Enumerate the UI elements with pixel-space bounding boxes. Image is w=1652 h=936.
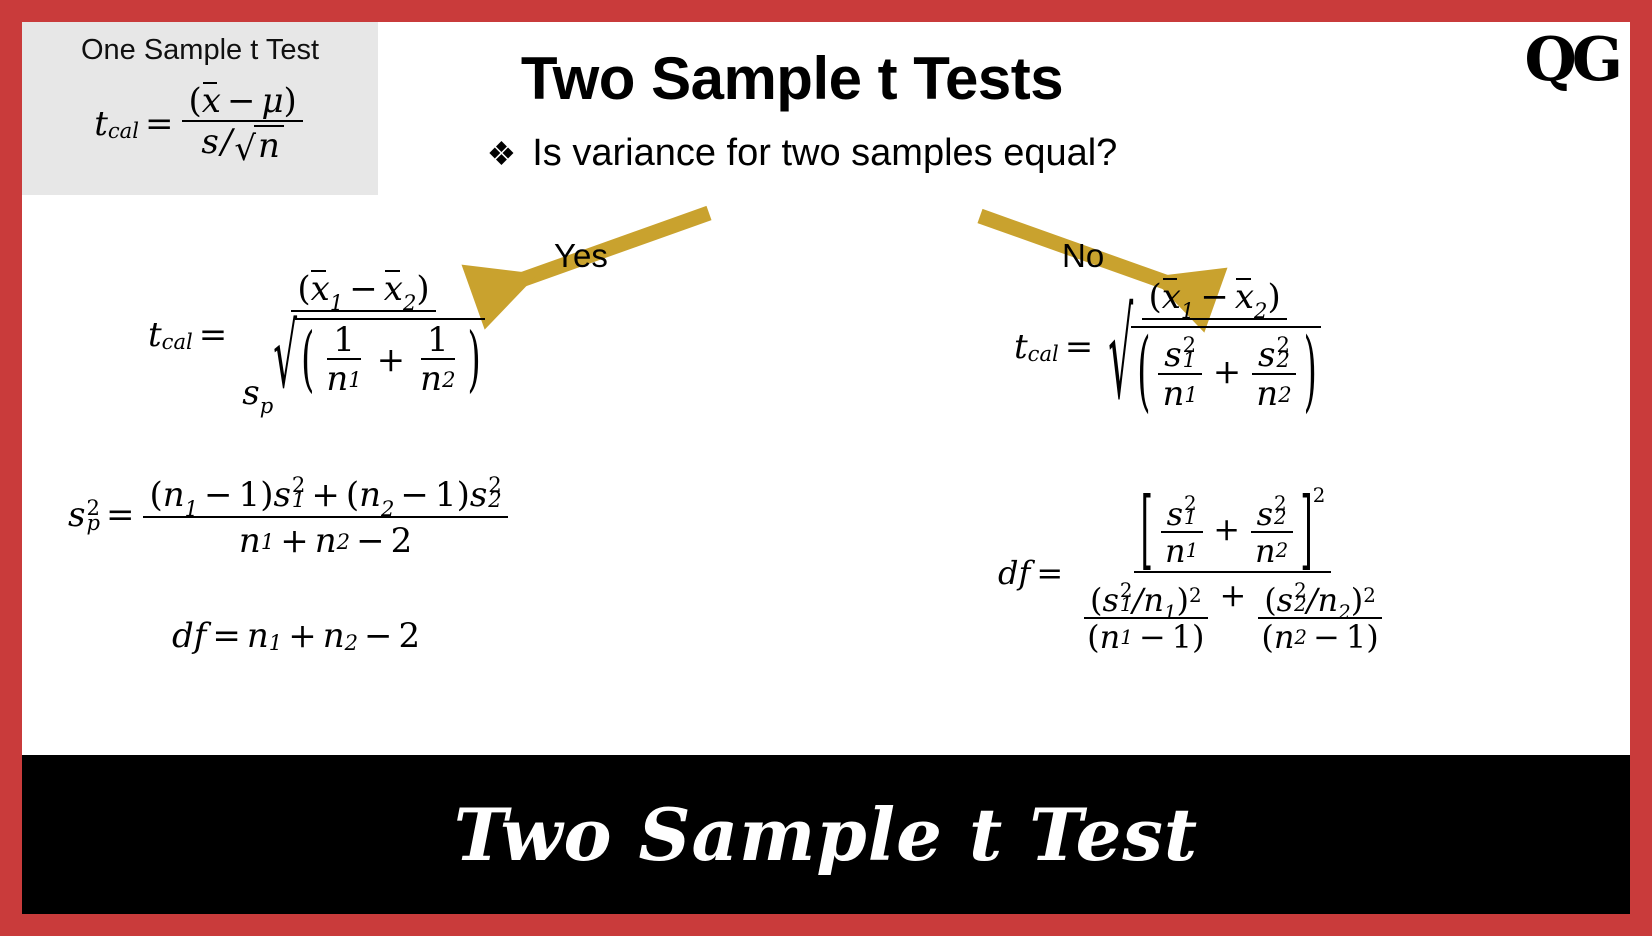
minus-sign: − <box>221 84 262 118</box>
n1-sub: 1 <box>1120 628 1133 648</box>
radicand-n: n <box>254 125 284 163</box>
numeral-two: 2 <box>391 524 413 558</box>
n2-symbol: n <box>1274 621 1295 653</box>
page-title: Two Sample t Tests <box>402 44 1182 113</box>
equals-sign: = <box>100 498 141 532</box>
one-sample-title: One Sample t Test <box>22 34 378 67</box>
close-paren: ) <box>1267 280 1280 314</box>
open-paren: ( <box>1087 621 1099 653</box>
n1-symbol: n <box>1100 621 1121 653</box>
open-paren: ( <box>149 478 162 512</box>
radical-sign: √ <box>234 125 256 163</box>
s1-sub: 1 <box>1183 350 1196 370</box>
numeral-one: 1 <box>435 478 457 512</box>
s2-sub: 2 <box>488 490 501 510</box>
df-symbol: df <box>998 557 1030 589</box>
s1-subsup: 2 1 <box>1183 332 1196 372</box>
sp-sub: p <box>260 395 274 416</box>
one-sample-fraction: (x−μ) s/ √n <box>182 84 302 163</box>
s2-symbol: s <box>470 478 487 512</box>
slash: / <box>1133 584 1144 616</box>
n2-sub: 2 <box>345 632 358 653</box>
s1-symbol: s <box>1167 498 1183 530</box>
n1-symbol: n <box>1162 377 1184 411</box>
s1-symbol: s <box>1102 584 1118 616</box>
s2-symbol: s <box>1258 338 1275 372</box>
numeral-one: 1 <box>239 478 261 512</box>
equals-sign: = <box>193 318 234 352</box>
close-paren: ) <box>1177 584 1189 616</box>
s1sq-over-n1: s 2 1 n1 <box>1156 332 1203 411</box>
close-paren: ) <box>1192 621 1204 653</box>
minus-sign: − <box>1307 621 1346 653</box>
n2-symbol: n <box>323 619 345 653</box>
close-paren: ) <box>1351 584 1363 616</box>
plus-sign: + <box>305 478 346 512</box>
slide-canvas: One Sample t Test tcal = (x−μ) s/ √n <box>22 22 1630 914</box>
welch-den-term-1: (s 2 1 /n1)2 (n1−1) <box>1081 579 1210 654</box>
x-bar: x <box>202 84 221 118</box>
n2-sub: 2 <box>337 531 350 552</box>
s1-subsup: 2 1 <box>292 472 305 512</box>
term-exponent: 2 <box>1363 586 1376 606</box>
x2-sub: 2 <box>403 292 416 313</box>
x1-bar: x <box>1162 280 1181 314</box>
sqrt-group: √ ( s 2 1 <box>1108 326 1321 413</box>
n1-symbol: n <box>326 362 348 396</box>
pooled-variance-fraction: (n1−1)s 2 1 +(n2−1)s 2 2 n1+n2−2 <box>143 472 507 558</box>
n1-sub: 1 <box>1186 541 1199 561</box>
left-t-fraction: (x1−x2) sp √ ( 1 n1 + <box>236 272 490 398</box>
bracket-exponent: 2 <box>1313 486 1326 506</box>
s-symbol: s <box>68 498 85 532</box>
open-paren: ( <box>1137 327 1150 415</box>
right-t-fraction: (x1−x2) √ ( s 2 <box>1102 280 1327 413</box>
t-sub: cal <box>162 331 193 352</box>
n1-sub: 1 <box>1164 603 1177 623</box>
sp-symbol: s <box>242 376 259 410</box>
s1-sub: 1 <box>292 490 305 510</box>
n2-symbol: n <box>420 362 442 396</box>
one-sample-t-test-box: One Sample t Test tcal = (x−μ) s/ √n <box>22 22 378 195</box>
plus-sign: + <box>1214 579 1253 611</box>
s1-symbol: s <box>273 478 290 512</box>
s2-subsup: 2 2 <box>488 472 501 512</box>
plus-sign: + <box>1207 513 1246 545</box>
plus-sign: + <box>371 343 412 377</box>
numeral-one: 1 <box>333 323 355 357</box>
s1-symbol: s <box>1164 338 1181 372</box>
open-paren: ( <box>301 324 314 395</box>
s2-subsup: 2 2 <box>1276 332 1289 372</box>
equals-sign: = <box>139 107 180 141</box>
t-symbol: t <box>1014 330 1028 364</box>
minus-sign: − <box>198 478 239 512</box>
sqrt-group: √ ( 1 n1 + 1 n2 <box>273 318 485 398</box>
n1-symbol: n <box>1165 535 1186 567</box>
slide-frame: One Sample t Test tcal = (x−μ) s/ √n <box>0 0 1652 936</box>
s2sq-over-n2: s 2 2 n2 <box>1249 492 1294 567</box>
s1-subsup: 2 1 <box>1184 492 1197 530</box>
open-paren: ( <box>1090 584 1102 616</box>
plus-sign: + <box>282 619 323 653</box>
s1-sub: 1 <box>1120 596 1133 615</box>
close-paren: ) <box>260 478 273 512</box>
welch-df-fraction: [ s 2 1 n1 + <box>1072 492 1394 653</box>
welch-den-term-2: (s 2 2 /n2)2 (n2−1) <box>1255 579 1384 654</box>
question-text: Is variance for two samples equal? <box>532 132 1117 175</box>
left-t-statistic-formula: tcal = (x1−x2) sp √ ( 1 <box>148 272 494 398</box>
s1sq-over-n1: s 2 1 n1 <box>1159 492 1204 567</box>
s-symbol: s <box>201 125 218 159</box>
n1-symbol: n <box>1143 584 1164 616</box>
s2-sub: 2 <box>1276 350 1289 370</box>
numeral-one: 1 <box>1172 621 1192 653</box>
radical-sign: √ <box>273 323 297 393</box>
open-bracket: [ <box>1140 486 1152 572</box>
n2-sub: 2 <box>381 498 394 519</box>
close-paren: ) <box>457 478 470 512</box>
yes-label: Yes <box>554 237 608 275</box>
pooled-variance-formula: s 2 p = (n1−1)s 2 1 +(n2−1)s 2 2 <box>68 472 511 558</box>
radical-sign: √ <box>1108 310 1133 407</box>
sp-sub: p <box>86 513 100 533</box>
slash: / <box>1307 584 1318 616</box>
minus-sign: − <box>394 478 435 512</box>
minus-sign: − <box>1133 621 1172 653</box>
n2-symbol: n <box>315 524 337 558</box>
one-over-n1: 1 n1 <box>320 323 367 396</box>
mu-symbol: μ <box>261 84 283 118</box>
x2-sub: 2 <box>1254 300 1267 321</box>
term-exponent: 2 <box>1189 586 1202 606</box>
equals-sign: = <box>1059 330 1100 364</box>
one-sample-t: t <box>94 107 108 141</box>
x2-bar: x <box>1235 280 1254 314</box>
df-symbol: df <box>172 619 206 653</box>
sqrt-n: √n <box>234 125 284 163</box>
equals-sign: = <box>206 619 247 653</box>
t-sub: cal <box>1028 343 1059 364</box>
minus-sign: − <box>343 272 384 306</box>
n2-symbol: n <box>359 478 381 512</box>
x1-sub: 1 <box>330 292 343 313</box>
numeral-one: 1 <box>1346 621 1366 653</box>
s1-subsup: 2 1 <box>1120 579 1133 617</box>
n2-sub: 2 <box>1278 384 1291 405</box>
open-paren: ( <box>346 478 359 512</box>
open-paren: ( <box>1148 280 1161 314</box>
numeral-one: 1 <box>427 323 449 357</box>
t-symbol: t <box>148 318 162 352</box>
close-paren: ) <box>1366 621 1378 653</box>
open-paren: ( <box>1264 584 1276 616</box>
slash: / <box>219 125 234 159</box>
one-over-n2: 1 n2 <box>414 323 461 396</box>
n1-sub: 1 <box>261 531 274 552</box>
x1-bar: x <box>311 272 330 306</box>
s2-subsup: 2 2 <box>1274 492 1287 530</box>
n1-symbol: n <box>247 619 269 653</box>
n1-sub: 1 <box>1184 384 1197 405</box>
diamond-bullet-icon: ❖ <box>487 137 517 170</box>
equals-sign: = <box>1030 557 1069 589</box>
n2-sub: 2 <box>1294 628 1307 648</box>
open-paren: ( <box>188 84 201 118</box>
minus-sign: − <box>358 619 399 653</box>
close-paren: ) <box>284 84 297 118</box>
s2-symbol: s <box>1277 584 1293 616</box>
question-row: ❖ Is variance for two samples equal? <box>402 132 1202 175</box>
n2-symbol: n <box>1256 377 1278 411</box>
close-paren: ) <box>416 272 429 306</box>
s2-symbol: s <box>1257 498 1273 530</box>
n1-symbol: n <box>239 524 261 558</box>
bottom-banner: Two Sample t Test <box>22 755 1630 914</box>
no-label: No <box>1062 237 1104 275</box>
n2-sub: 2 <box>1338 603 1351 623</box>
s2-sub: 2 <box>1274 509 1287 528</box>
close-paren: ) <box>1304 327 1317 415</box>
s2sq-over-n2: s 2 2 n2 <box>1250 332 1297 411</box>
s2-subsup: 2 2 <box>1294 579 1307 617</box>
n1-symbol: n <box>163 478 185 512</box>
plus-sign: + <box>274 524 315 558</box>
right-degrees-of-freedom-formula: df = [ s 2 1 <box>998 492 1397 653</box>
close-bracket: ] <box>1300 486 1312 572</box>
minus-sign: − <box>350 524 391 558</box>
close-paren: ) <box>468 324 481 395</box>
numeral-two: 2 <box>399 619 421 653</box>
one-sample-t-sub: cal <box>108 120 139 141</box>
x2-bar: x <box>384 272 403 306</box>
left-degrees-of-freedom-formula: df = n1+n2−2 <box>172 617 420 656</box>
right-t-statistic-formula: tcal = (x1−x2) √ ( s <box>1014 280 1330 413</box>
n2-sub: 2 <box>1276 541 1289 561</box>
n1-sub: 1 <box>269 632 282 653</box>
n2-sub: 2 <box>442 369 455 390</box>
n2-symbol: n <box>1318 584 1339 616</box>
bottom-banner-title: Two Sample t Test <box>454 792 1198 877</box>
minus-sign: − <box>1194 280 1235 314</box>
one-sample-formula: tcal = (x−μ) s/ √n <box>22 84 378 163</box>
sp-subsup: 2 p <box>86 495 100 535</box>
n1-sub: 1 <box>185 498 198 519</box>
plus-sign: + <box>1207 355 1248 389</box>
x1-sub: 1 <box>1181 300 1194 321</box>
open-paren: ( <box>1261 621 1273 653</box>
s1-sub: 1 <box>1184 509 1197 528</box>
n1-sub: 1 <box>348 369 361 390</box>
qg-logo: QG <box>1524 30 1618 90</box>
n2-symbol: n <box>1255 535 1276 567</box>
open-paren: ( <box>297 272 310 306</box>
s2-sub: 2 <box>1294 596 1307 615</box>
